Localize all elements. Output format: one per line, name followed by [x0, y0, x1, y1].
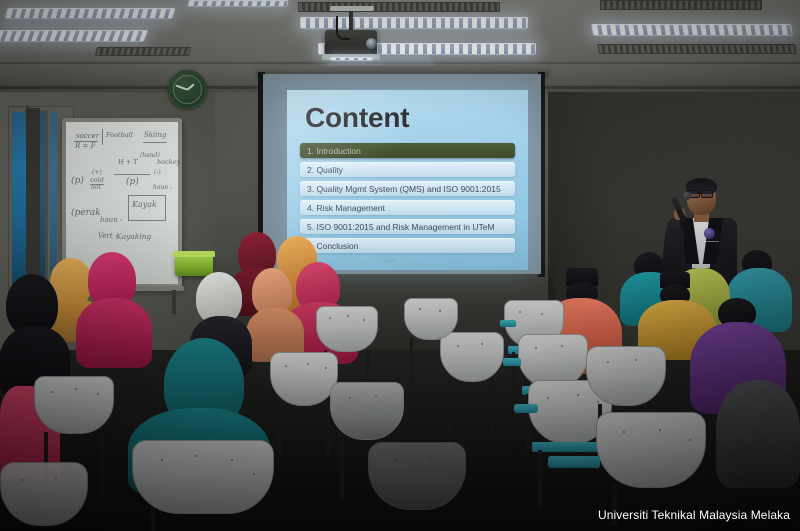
chair-leg — [538, 450, 542, 510]
whiteboard-note: Vert - — [98, 232, 117, 240]
whiteboard-note: haun - — [100, 216, 122, 224]
venue-watermark: Universiti Teknikal Malaysia Melaka — [598, 508, 790, 522]
whiteboard-note: (p) — [71, 176, 84, 186]
microphone-head — [683, 192, 691, 200]
projector-glow-strip — [330, 57, 374, 61]
door-window-strip[interactable] — [12, 113, 26, 295]
chair-leg — [340, 438, 344, 500]
slide-footer: UTeM — [385, 258, 395, 263]
door-jamb-right — [26, 108, 40, 302]
presenter-glasses-right-lens — [701, 190, 713, 198]
chair-back — [316, 306, 378, 352]
whiteboard-note: R = F — [75, 142, 95, 150]
chair-perforation — [395, 459, 397, 461]
whiteboard-note: (p) — [126, 177, 139, 187]
presenter-badge-text — [700, 241, 719, 242]
slide-item-label: 2. Quality — [300, 165, 343, 175]
ceiling-light-center — [300, 17, 528, 29]
chair-perforation — [195, 455, 197, 457]
chair-back — [34, 376, 114, 434]
chair-perforation — [347, 315, 349, 317]
chair-perforation — [363, 319, 365, 321]
chair-leg — [326, 404, 330, 458]
whiteboard-note: soccer — [76, 132, 99, 140]
ceiling-light-right-rear — [187, 0, 288, 7]
whiteboard-note: H + T — [118, 158, 138, 166]
chair-perforation — [541, 313, 543, 315]
chair-perforation — [21, 479, 23, 481]
chair-seat — [532, 442, 602, 452]
wall-clock — [168, 70, 207, 109]
whiteboard-note: haun - — [153, 184, 172, 191]
chair-perforation — [231, 459, 233, 461]
presenter-badge-logo — [704, 228, 715, 239]
slide-item-iso-risk-utem[interactable]: 5. ISO 9001:2015 and Risk Management in … — [300, 219, 515, 234]
chair-perforation — [561, 345, 563, 347]
chair-perforation — [659, 429, 661, 431]
chair-perforation — [97, 393, 99, 395]
whiteboard-note: Football — [106, 131, 133, 139]
chair-seat — [503, 358, 521, 366]
chair-perforation — [51, 391, 53, 393]
whiteboard-note: not — [91, 184, 101, 191]
chair-perforation — [623, 431, 625, 433]
projector-mount-plate — [330, 6, 374, 11]
chair-back — [404, 298, 458, 340]
whiteboard-note: hockey — [157, 158, 180, 166]
presenter-glasses-bridge — [698, 192, 701, 194]
chair-perforation — [535, 347, 537, 349]
chair-perforation — [457, 345, 459, 347]
chair-perforation — [161, 459, 163, 461]
chair-perforation — [325, 367, 327, 369]
chair-leg — [278, 404, 282, 458]
chair-seat — [500, 320, 516, 327]
whiteboard-leg — [172, 290, 176, 314]
chair-leg — [100, 432, 104, 496]
whiteboard-underline — [143, 142, 167, 143]
chair-back — [368, 442, 466, 510]
chair-perforation — [285, 365, 287, 367]
slide-item-risk-management[interactable]: 4. Risk Management — [300, 200, 515, 215]
chair-perforation — [577, 394, 579, 396]
chair-perforation — [253, 473, 255, 475]
slide-page-number: 2 — [512, 258, 514, 263]
ceiling-seam — [0, 62, 800, 64]
chair-perforation — [55, 477, 57, 479]
chair-perforation — [635, 359, 637, 361]
ceiling-vent-center — [298, 2, 500, 12]
chair-perforation — [519, 311, 521, 313]
chair-perforation — [547, 397, 549, 399]
chair-perforation — [597, 401, 599, 403]
chair-leg — [150, 510, 155, 531]
chair-perforation — [375, 395, 377, 397]
ceiling-light-right — [591, 24, 793, 36]
lecture-hall-photo: soccer R = F Football Skiing H + T (hand… — [0, 0, 800, 531]
whiteboard-divider — [102, 129, 103, 145]
attendee-grey-shirt-front — [716, 380, 800, 490]
chair-leg — [490, 380, 494, 438]
chair-perforation — [307, 363, 309, 365]
chair-perforation — [481, 343, 483, 345]
chair-back — [132, 440, 274, 514]
whiteboard-note: (+) — [92, 169, 102, 176]
slide-item-label: 3. Quality Mgmt System (QMS) and ISO 900… — [300, 184, 501, 194]
ceiling-vent-right-rear — [600, 0, 762, 10]
whiteboard-note: Skiing — [144, 131, 167, 139]
chair-seat — [514, 404, 538, 413]
whiteboard-note: (perak — [71, 208, 101, 218]
chair-leg — [410, 338, 413, 384]
chair-perforation — [75, 388, 77, 390]
whiteboard-arrow — [114, 174, 150, 175]
whiteboard-note: Kayaking — [116, 232, 151, 241]
attendee-black-hijab-left — [0, 274, 70, 390]
ceiling-light-left-rear — [4, 8, 175, 19]
slide-item-label: 5. ISO 9001:2015 and Risk Management in … — [300, 222, 495, 232]
ceiling-light-left-front — [0, 30, 148, 42]
slide-item-introduction[interactable]: 1. Introduction — [300, 143, 515, 158]
chair-seat — [548, 456, 600, 468]
slide-item-label: 4. Risk Management — [300, 203, 385, 213]
chair-perforation — [689, 439, 691, 441]
projector-lens — [366, 38, 377, 49]
chair-perforation — [439, 310, 441, 312]
slide-item-quality[interactable]: 2. Quality — [300, 162, 515, 177]
chair-back — [596, 412, 706, 488]
ceiling-vent-left — [95, 47, 191, 56]
whiteboard-note: cold — [90, 176, 104, 184]
chair-leg — [448, 380, 452, 438]
chair-perforation — [329, 317, 331, 319]
shoulders — [716, 380, 800, 488]
chair-perforation — [429, 457, 431, 459]
chair-perforation — [349, 397, 351, 399]
chair-perforation — [607, 361, 609, 363]
green-storage-box-lid — [173, 251, 215, 257]
ceiling-vent-right — [597, 44, 796, 54]
projector-cable — [336, 16, 350, 40]
chair-perforation — [419, 308, 421, 310]
slide-title: Content — [305, 102, 409, 134]
slide-item-qms-iso[interactable]: 3. Quality Mgmt System (QMS) and ISO 900… — [300, 181, 515, 196]
slide-item-label: 1. Introduction — [300, 146, 361, 156]
whiteboard-note: Kayak — [132, 200, 157, 209]
slide-item-conclusion[interactable]: 6. Conclusion — [300, 238, 515, 253]
whiteboard-note: (-) — [154, 169, 161, 176]
